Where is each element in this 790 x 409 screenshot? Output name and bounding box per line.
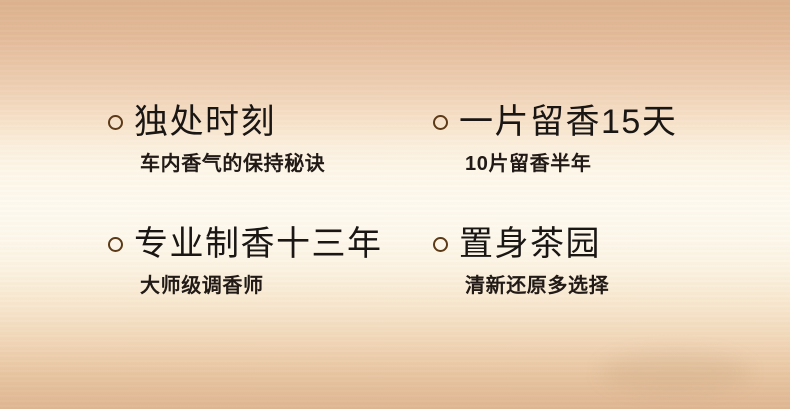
ring-bullet-icon [433, 115, 448, 130]
feature-subtitle: 大师级调香师 [140, 276, 438, 296]
promo-banner: 独处时刻 车内香气的保持秘诀 一片留香15天 10片留香半年 专业制香十三年 大… [0, 0, 790, 409]
feature-subtitle: 清新还原多选择 [465, 276, 763, 296]
ring-bullet-icon [108, 237, 123, 252]
ring-bullet-icon [433, 237, 448, 252]
feature-subtitle: 车内香气的保持秘诀 [140, 154, 438, 174]
feature-heading-row: 专业制香十三年 [108, 222, 438, 266]
feature-item: 独处时刻 车内香气的保持秘诀 [108, 100, 438, 174]
feature-item: 一片留香15天 10片留香半年 [433, 100, 763, 174]
feature-item: 专业制香十三年 大师级调香师 [108, 222, 438, 296]
feature-heading-row: 置身茶园 [433, 222, 763, 266]
feature-subtitle: 10片留香半年 [465, 154, 763, 174]
feature-item: 置身茶园 清新还原多选择 [433, 222, 763, 296]
feature-heading-row: 一片留香15天 [433, 100, 763, 144]
feature-heading-row: 独处时刻 [108, 100, 438, 144]
feature-title: 一片留香15天 [459, 105, 677, 139]
feature-title: 置身茶园 [459, 227, 601, 261]
feature-title: 专业制香十三年 [134, 227, 383, 261]
ring-bullet-icon [108, 115, 123, 130]
feature-grid: 独处时刻 车内香气的保持秘诀 一片留香15天 10片留香半年 专业制香十三年 大… [0, 0, 790, 409]
feature-title: 独处时刻 [134, 105, 276, 139]
